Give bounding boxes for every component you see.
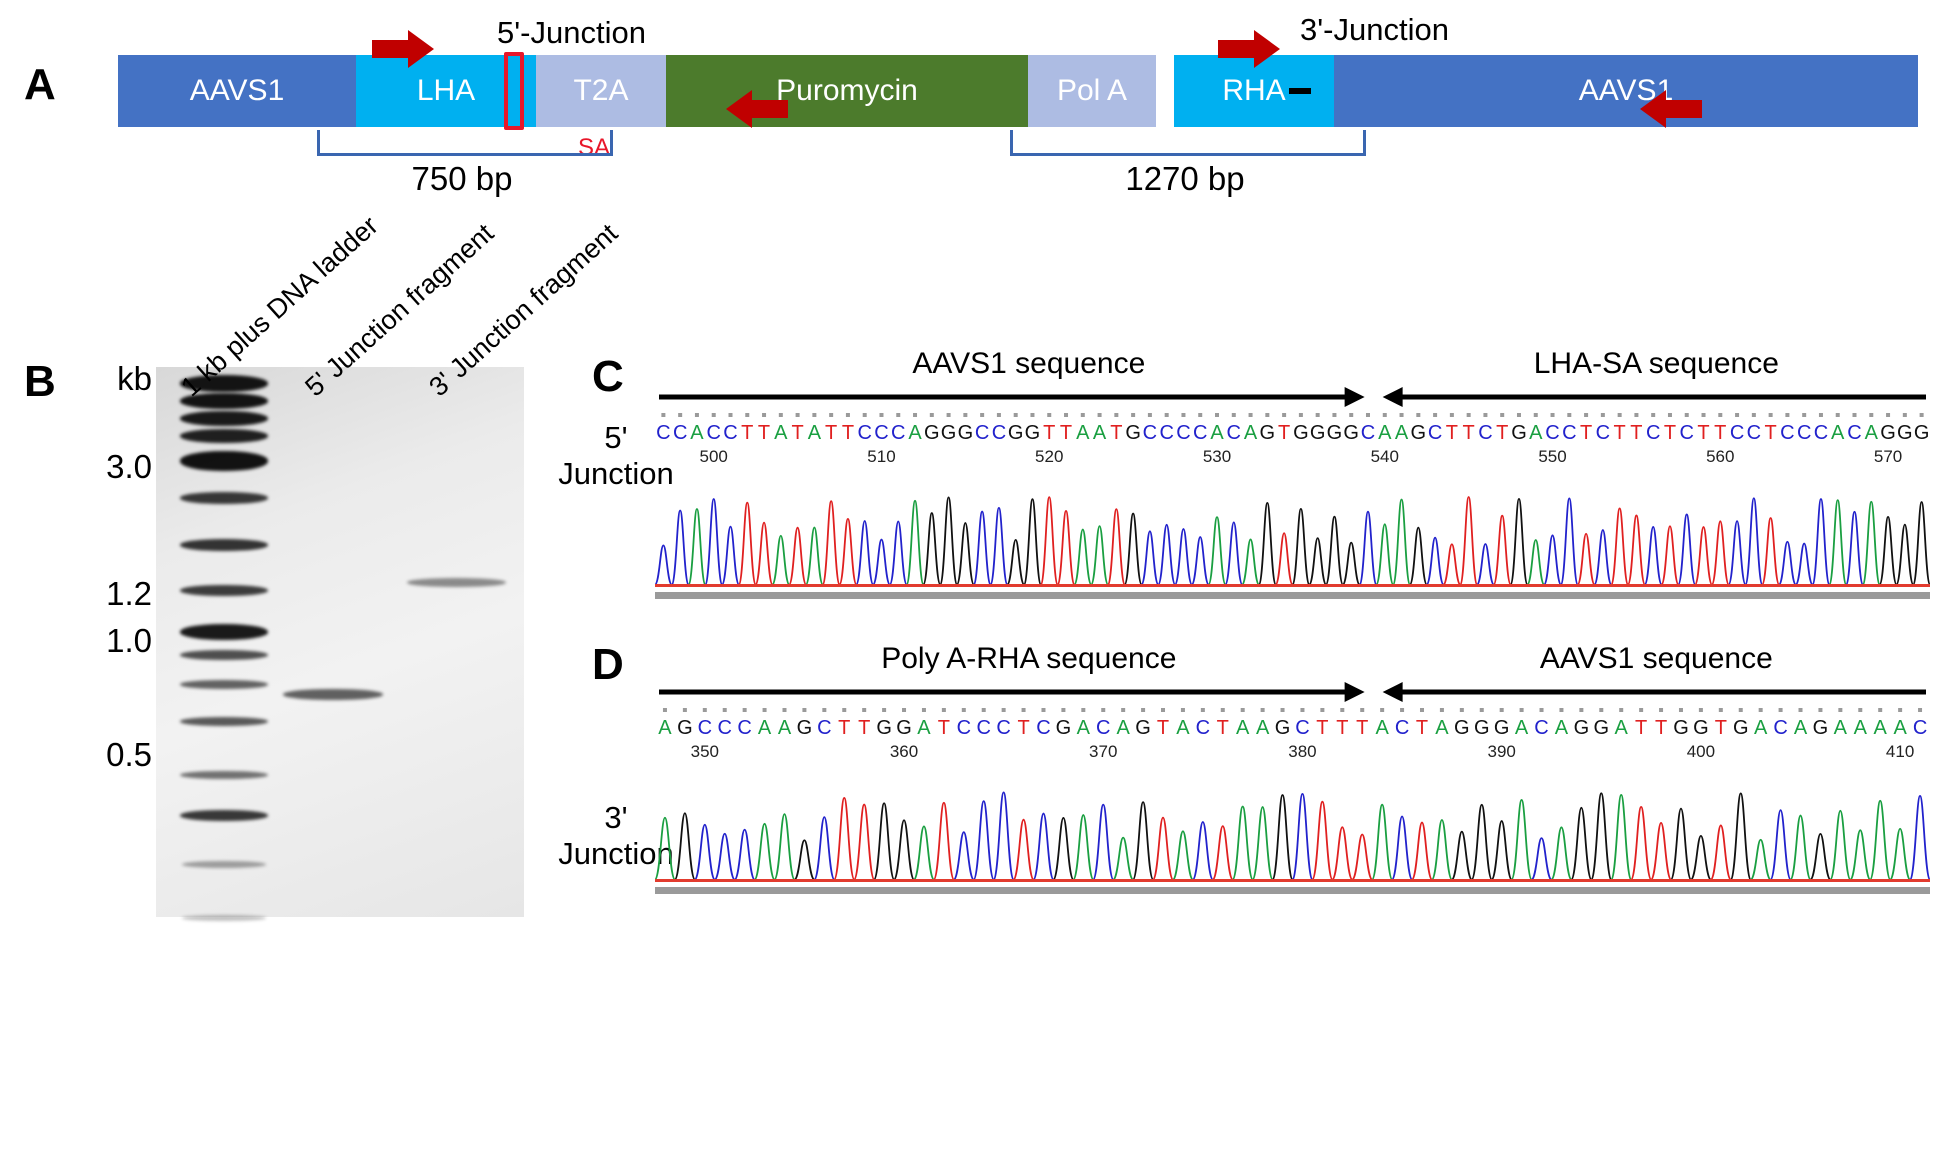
ladder-band bbox=[180, 492, 268, 504]
svg-text:A: A bbox=[808, 422, 822, 444]
svg-text:T: T bbox=[1043, 422, 1055, 444]
svg-text:G: G bbox=[876, 717, 892, 739]
svg-text:C: C bbox=[1176, 422, 1190, 444]
svg-text:G: G bbox=[1343, 422, 1359, 444]
ladder-band bbox=[180, 680, 268, 689]
svg-text:570: 570 bbox=[1874, 447, 1902, 466]
svg-text:G: G bbox=[1494, 717, 1510, 739]
svg-text:C: C bbox=[656, 422, 670, 444]
svg-text:T: T bbox=[825, 422, 837, 444]
svg-text:C: C bbox=[737, 717, 751, 739]
svg-text:C: C bbox=[817, 717, 831, 739]
svg-text:C: C bbox=[1295, 717, 1309, 739]
svg-text:C: C bbox=[857, 422, 871, 444]
quality-dot-row bbox=[655, 702, 1930, 712]
svg-text:T: T bbox=[838, 717, 850, 739]
panel-a-letter: A bbox=[24, 60, 56, 110]
gel-kb-tick: 0.5 bbox=[78, 736, 152, 774]
svg-text:A: A bbox=[1378, 422, 1392, 444]
svg-text:T: T bbox=[1664, 422, 1676, 444]
svg-text:G: G bbox=[1025, 422, 1041, 444]
svg-text:360: 360 bbox=[890, 742, 918, 761]
agarose-gel-image bbox=[156, 367, 524, 917]
svg-text:C: C bbox=[718, 717, 732, 739]
ladder-band bbox=[180, 771, 268, 779]
svg-text:T: T bbox=[1217, 717, 1229, 739]
svg-text:G: G bbox=[1914, 422, 1930, 444]
svg-text:T: T bbox=[858, 717, 870, 739]
svg-text:380: 380 bbox=[1288, 742, 1316, 761]
svg-text:G: G bbox=[1693, 717, 1709, 739]
svg-text:A: A bbox=[1555, 717, 1569, 739]
ladder-band bbox=[180, 585, 268, 596]
gel-band-5p-junction bbox=[283, 689, 383, 700]
construct-segment-puromycin: Puromycin bbox=[666, 55, 1028, 127]
construct-segment-t2a: T2A bbox=[536, 55, 666, 127]
gel-kb-header: kb bbox=[100, 360, 152, 398]
ladder-band bbox=[180, 451, 268, 471]
construct-segment-label: Pol A bbox=[1057, 74, 1127, 108]
ladder-band bbox=[180, 539, 268, 551]
svg-text:T: T bbox=[1655, 717, 1667, 739]
gel-band-3p-junction bbox=[407, 578, 506, 587]
svg-text:C: C bbox=[1680, 422, 1694, 444]
svg-text:520: 520 bbox=[1035, 447, 1063, 466]
svg-text:A: A bbox=[1236, 717, 1250, 739]
svg-text:A: A bbox=[1831, 422, 1845, 444]
svg-text:T: T bbox=[1416, 717, 1428, 739]
svg-text:C: C bbox=[1036, 717, 1050, 739]
svg-text:T: T bbox=[1157, 717, 1169, 739]
svg-text:A: A bbox=[1794, 717, 1808, 739]
amplicon-3p-label: 1270 bp bbox=[1125, 160, 1245, 198]
svg-text:G: G bbox=[1897, 422, 1913, 444]
svg-text:G: G bbox=[1125, 422, 1141, 444]
svg-text:A: A bbox=[1395, 422, 1409, 444]
svg-text:C: C bbox=[1730, 422, 1744, 444]
svg-text:C: C bbox=[957, 717, 971, 739]
position-ruler: 350360370380390400410 bbox=[655, 740, 1930, 764]
svg-text:T: T bbox=[791, 422, 803, 444]
construct-segment-label: AAVS1 bbox=[190, 74, 285, 108]
ladder-band bbox=[182, 861, 266, 868]
svg-text:G: G bbox=[958, 422, 974, 444]
svg-text:C: C bbox=[1193, 422, 1207, 444]
svg-text:A: A bbox=[690, 422, 704, 444]
svg-text:T: T bbox=[1316, 717, 1328, 739]
svg-text:C: C bbox=[698, 717, 712, 739]
construct-segment-pola: Pol A bbox=[1028, 55, 1156, 127]
svg-text:A: A bbox=[1893, 717, 1907, 739]
forward-primer-arrow-5p bbox=[372, 28, 434, 70]
svg-text:T: T bbox=[1630, 422, 1642, 444]
svg-text:G: G bbox=[941, 422, 957, 444]
svg-text:T: T bbox=[1336, 717, 1348, 739]
svg-text:G: G bbox=[1260, 422, 1276, 444]
svg-text:G: G bbox=[924, 422, 940, 444]
svg-text:C: C bbox=[1814, 422, 1828, 444]
svg-text:A: A bbox=[1615, 717, 1629, 739]
svg-text:C: C bbox=[976, 717, 990, 739]
svg-text:G: G bbox=[1275, 717, 1291, 739]
svg-text:C: C bbox=[1143, 422, 1157, 444]
svg-text:T: T bbox=[1017, 717, 1029, 739]
construct-segment-aavs1: AAVS1 bbox=[118, 55, 356, 127]
svg-text:C: C bbox=[1773, 717, 1787, 739]
svg-text:C: C bbox=[874, 422, 888, 444]
svg-text:500: 500 bbox=[700, 447, 728, 466]
svg-text:T: T bbox=[1580, 422, 1592, 444]
svg-text:T: T bbox=[1110, 422, 1122, 444]
svg-text:A: A bbox=[1529, 422, 1543, 444]
gel-kb-tick: 1.0 bbox=[78, 622, 152, 660]
construct-segment-aavs1-3p: AAVS1 bbox=[1334, 55, 1918, 127]
svg-text:C: C bbox=[673, 422, 687, 444]
position-ruler: 500510520530540550560570 bbox=[655, 445, 1930, 469]
ladder-band bbox=[180, 624, 268, 640]
reverse-primer-arrow-5p bbox=[726, 88, 788, 130]
construct-segment-label: LHA bbox=[417, 74, 475, 108]
svg-text:C: C bbox=[1596, 422, 1610, 444]
svg-text:A: A bbox=[758, 717, 772, 739]
splice-acceptor-box bbox=[504, 52, 524, 130]
left-sequence-region-label: Poly A-RHA sequence bbox=[715, 642, 1343, 676]
svg-text:T: T bbox=[1765, 422, 1777, 444]
ladder-band bbox=[180, 411, 268, 426]
svg-text:A: A bbox=[1834, 717, 1848, 739]
svg-text:390: 390 bbox=[1487, 742, 1515, 761]
svg-text:T: T bbox=[1446, 422, 1458, 444]
quality-dot-row bbox=[655, 407, 1930, 417]
construct-segment-label: Puromycin bbox=[776, 74, 918, 108]
svg-text:C: C bbox=[1395, 717, 1409, 739]
reverse-primer-arrow-3p bbox=[1640, 88, 1702, 130]
svg-text:G: G bbox=[1327, 422, 1343, 444]
svg-text:C: C bbox=[723, 422, 737, 444]
svg-text:G: G bbox=[1056, 717, 1072, 739]
svg-text:C: C bbox=[706, 422, 720, 444]
svg-text:G: G bbox=[1293, 422, 1309, 444]
ladder-band bbox=[180, 810, 268, 821]
svg-text:T: T bbox=[1496, 422, 1508, 444]
svg-text:G: G bbox=[1733, 717, 1749, 739]
ladder-band bbox=[180, 650, 268, 660]
svg-text:A: A bbox=[1077, 717, 1091, 739]
svg-text:G: G bbox=[1310, 422, 1326, 444]
svg-text:A: A bbox=[1435, 717, 1449, 739]
svg-text:C: C bbox=[1847, 422, 1861, 444]
chromatogram-baseline-grey bbox=[655, 592, 1930, 599]
svg-text:T: T bbox=[842, 422, 854, 444]
svg-text:A: A bbox=[1515, 717, 1529, 739]
left-sequence-region-label: AAVS1 sequence bbox=[715, 347, 1343, 381]
svg-text:G: G bbox=[1008, 422, 1024, 444]
svg-text:T: T bbox=[938, 717, 950, 739]
svg-text:A: A bbox=[778, 717, 792, 739]
basecall-sequence: AGCCCAAGCTTGGATCCCTCGACAGTACTAAGCTTTACTA… bbox=[655, 714, 1930, 740]
svg-text:G: G bbox=[1574, 717, 1590, 739]
amplicon-5p-bracket bbox=[317, 130, 613, 156]
svg-text:T: T bbox=[1614, 422, 1626, 444]
basecall-sequence: CCACCTTATATTCCCAGGGCCGGTTAATGCCCCACAGTGG… bbox=[655, 419, 1930, 445]
svg-text:C: C bbox=[1196, 717, 1210, 739]
svg-text:A: A bbox=[1176, 717, 1190, 739]
chromatogram-baseline-red bbox=[655, 879, 1930, 882]
svg-text:G: G bbox=[1511, 422, 1527, 444]
right-sequence-region-label: AAVS1 sequence bbox=[1403, 642, 1910, 676]
svg-text:A: A bbox=[917, 717, 931, 739]
svg-text:T: T bbox=[1060, 422, 1072, 444]
svg-text:C: C bbox=[1646, 422, 1660, 444]
ladder-band bbox=[180, 429, 268, 443]
forward-primer-arrow-3p bbox=[1218, 28, 1280, 70]
svg-text:370: 370 bbox=[1089, 742, 1117, 761]
svg-text:A: A bbox=[1874, 717, 1888, 739]
svg-text:C: C bbox=[1428, 422, 1442, 444]
svg-text:C: C bbox=[1747, 422, 1761, 444]
svg-text:A: A bbox=[1375, 717, 1389, 739]
svg-text:C: C bbox=[1534, 717, 1548, 739]
svg-text:A: A bbox=[908, 422, 922, 444]
svg-text:A: A bbox=[1244, 422, 1258, 444]
construct-segment-label: T2A bbox=[573, 74, 628, 108]
junction-3p-label: 3'-Junction bbox=[1300, 12, 1449, 48]
svg-text:G: G bbox=[1411, 422, 1427, 444]
svg-text:350: 350 bbox=[691, 742, 719, 761]
panel-c-letter: C bbox=[592, 352, 624, 402]
svg-text:A: A bbox=[1116, 717, 1130, 739]
gel-kb-tick: 1.2 bbox=[78, 575, 152, 613]
svg-text:G: G bbox=[896, 717, 912, 739]
svg-text:G: G bbox=[797, 717, 813, 739]
svg-text:A: A bbox=[1865, 422, 1879, 444]
svg-text:A: A bbox=[1256, 717, 1270, 739]
right-sequence-region-label: LHA-SA sequence bbox=[1403, 347, 1910, 381]
svg-text:C: C bbox=[1159, 422, 1173, 444]
svg-text:560: 560 bbox=[1706, 447, 1734, 466]
svg-text:A: A bbox=[1076, 422, 1090, 444]
construct-segment-gap bbox=[1156, 55, 1174, 127]
svg-text:G: G bbox=[1880, 422, 1896, 444]
gel-kb-tick: 3.0 bbox=[78, 448, 152, 486]
svg-text:C: C bbox=[891, 422, 905, 444]
svg-text:A: A bbox=[1754, 717, 1768, 739]
svg-text:G: G bbox=[1454, 717, 1470, 739]
svg-text:T: T bbox=[1356, 717, 1368, 739]
svg-text:G: G bbox=[677, 717, 693, 739]
svg-text:C: C bbox=[1545, 422, 1559, 444]
panel-d-letter: D bbox=[592, 640, 624, 690]
amplicon-3p-bracket bbox=[1010, 130, 1366, 156]
svg-text:T: T bbox=[1463, 422, 1475, 444]
svg-text:T: T bbox=[741, 422, 753, 444]
svg-text:A: A bbox=[1093, 422, 1107, 444]
ladder-band bbox=[182, 915, 266, 921]
svg-text:T: T bbox=[758, 422, 770, 444]
amplicon-5p-label: 750 bp bbox=[402, 160, 522, 198]
junction-5p-label: 5'-Junction bbox=[497, 15, 646, 51]
svg-text:G: G bbox=[1673, 717, 1689, 739]
svg-text:T: T bbox=[1635, 717, 1647, 739]
svg-text:510: 510 bbox=[867, 447, 895, 466]
svg-text:G: G bbox=[1594, 717, 1610, 739]
svg-text:400: 400 bbox=[1687, 742, 1715, 761]
svg-text:530: 530 bbox=[1203, 447, 1231, 466]
svg-text:A: A bbox=[1854, 717, 1868, 739]
svg-text:A: A bbox=[774, 422, 788, 444]
svg-text:G: G bbox=[1813, 717, 1829, 739]
linker-dash bbox=[1289, 88, 1311, 94]
svg-text:C: C bbox=[996, 717, 1010, 739]
svg-text:G: G bbox=[1135, 717, 1151, 739]
svg-text:A: A bbox=[658, 717, 672, 739]
ladder-band bbox=[180, 717, 268, 726]
svg-text:C: C bbox=[1562, 422, 1576, 444]
svg-text:540: 540 bbox=[1371, 447, 1399, 466]
svg-text:C: C bbox=[1797, 422, 1811, 444]
panel-b-letter: B bbox=[24, 357, 56, 407]
svg-text:C: C bbox=[1478, 422, 1492, 444]
svg-text:410: 410 bbox=[1886, 742, 1914, 761]
svg-text:T: T bbox=[1697, 422, 1709, 444]
svg-text:C: C bbox=[1361, 422, 1375, 444]
svg-text:C: C bbox=[1913, 717, 1927, 739]
svg-text:T: T bbox=[1714, 422, 1726, 444]
svg-text:T: T bbox=[1715, 717, 1727, 739]
svg-text:C: C bbox=[1227, 422, 1241, 444]
svg-text:C: C bbox=[975, 422, 989, 444]
svg-text:G: G bbox=[1474, 717, 1490, 739]
svg-text:C: C bbox=[1096, 717, 1110, 739]
svg-text:T: T bbox=[1278, 422, 1290, 444]
construct-segment-label: RHA bbox=[1222, 74, 1285, 108]
svg-text:550: 550 bbox=[1538, 447, 1566, 466]
panel-c-sanger-trace: AAVS1 sequenceLHA-SA sequenceCCACCTTATAT… bbox=[655, 345, 1935, 610]
panel-d-sanger-trace: Poly A-RHA sequenceAAVS1 sequenceAGCCCAA… bbox=[655, 640, 1935, 905]
svg-text:C: C bbox=[1780, 422, 1794, 444]
svg-text:A: A bbox=[1210, 422, 1224, 444]
svg-text:C: C bbox=[992, 422, 1006, 444]
chromatogram-baseline-red bbox=[655, 584, 1930, 587]
chromatogram-baseline-grey bbox=[655, 887, 1930, 894]
